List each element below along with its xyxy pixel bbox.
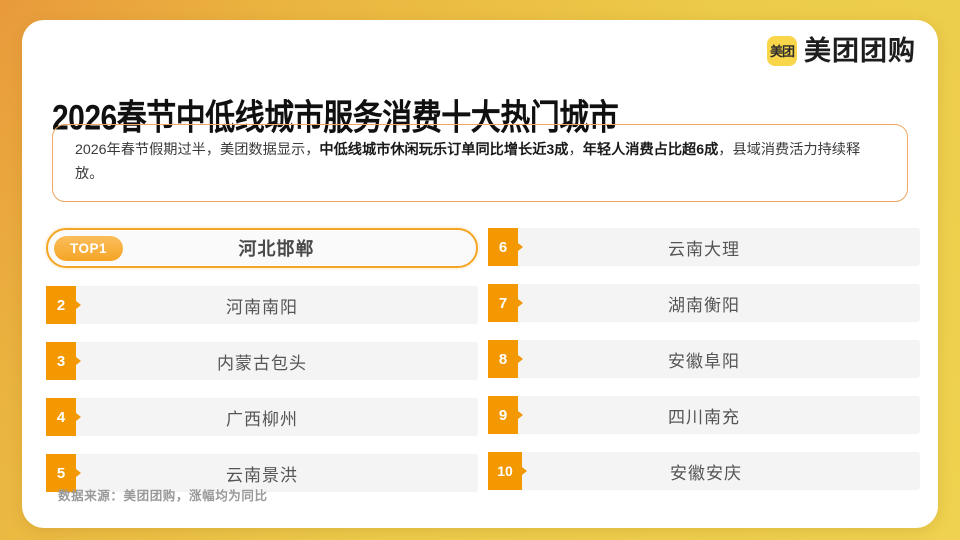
city-name: 安徽安庆 [522,459,920,484]
city-name: 云南景洪 [76,461,478,486]
city-name: 河南南阳 [76,293,478,318]
rank-badge: 8 [488,340,518,378]
ranking-row-4[interactable]: 4 广西柳州 [46,398,478,436]
summary-sep: ， [568,142,582,158]
city-name: 内蒙古包头 [76,349,478,374]
ranking-row-1[interactable]: TOP1 河北邯郸 [46,228,478,268]
data-source-note: 数据来源：美团团购，涨幅均为同比 [58,485,268,504]
ranking-row-3[interactable]: 3 内蒙古包头 [46,342,478,380]
rank-badge: 7 [488,284,518,322]
rank-badge: 9 [488,396,518,434]
summary-highlight-1: 中低线城市休闲玩乐订单同比增长近3成 [319,142,568,158]
meituan-badge-icon: 美团 [767,36,797,66]
city-name: 广西柳州 [76,405,478,430]
city-name: 湖南衡阳 [518,291,920,316]
city-name: 河北邯郸 [123,235,476,261]
ranking-column-right: 6 云南大理 7 湖南衡阳 8 安徽阜阳 9 四川南充 10 安徽安庆 [488,228,920,490]
city-name: 安徽阜阳 [518,347,920,372]
rank-badge: 3 [46,342,76,380]
summary-lead: 2026年春节假期过半，美团数据显示， [75,142,319,158]
rank-badge: 4 [46,398,76,436]
ranking-row-6[interactable]: 6 云南大理 [488,228,920,266]
brand-logo: 美团 美团团购 [767,36,916,66]
city-name: 四川南充 [518,403,920,428]
summary-box: 2026年春节假期过半，美团数据显示，中低线城市休闲玩乐订单同比增长近3成，年轻… [52,124,908,202]
rank-badge: 2 [46,286,76,324]
rank-badge: 6 [488,228,518,266]
summary-highlight-2: 年轻人消费占比超6成 [583,142,719,158]
ranking-row-8[interactable]: 8 安徽阜阳 [488,340,920,378]
infographic-card: 美团 美团团购 2026春节中低线城市服务消费十大热门城市 2026年春节假期过… [22,20,938,528]
city-name: 云南大理 [518,235,920,260]
ranking-column-left: TOP1 河北邯郸 2 河南南阳 3 内蒙古包头 4 广西柳州 5 云南景洪 [46,228,478,492]
brand-name: 美团团购 [804,38,916,65]
rank-badge: 10 [488,452,522,490]
rank-badge-top1: TOP1 [54,236,123,261]
ranking-row-10[interactable]: 10 安徽安庆 [488,452,920,490]
ranking-row-2[interactable]: 2 河南南阳 [46,286,478,324]
ranking-row-9[interactable]: 9 四川南充 [488,396,920,434]
summary-text: 2026年春节假期过半，美团数据显示，中低线城市休闲玩乐订单同比增长近3成，年轻… [75,138,885,187]
ranking-row-7[interactable]: 7 湖南衡阳 [488,284,920,322]
